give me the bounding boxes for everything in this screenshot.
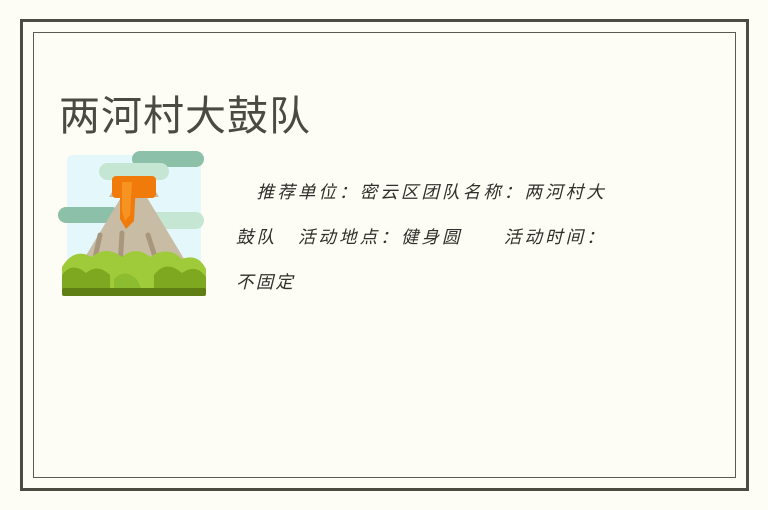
team-details-text: 推荐单位：密云区团队名称：两河村大鼓队 活动地点：健身圆 活动时间：不固定 (236, 171, 606, 306)
page-root: 两河村大鼓队 (0, 0, 768, 510)
volcano-illustration (58, 149, 210, 301)
page-content: 两河村大鼓队 (34, 33, 735, 477)
page-title: 两河村大鼓队 (59, 93, 311, 140)
decorative-inner-frame: 两河村大鼓队 (33, 32, 736, 478)
decorative-outer-frame: 两河村大鼓队 (20, 19, 749, 491)
